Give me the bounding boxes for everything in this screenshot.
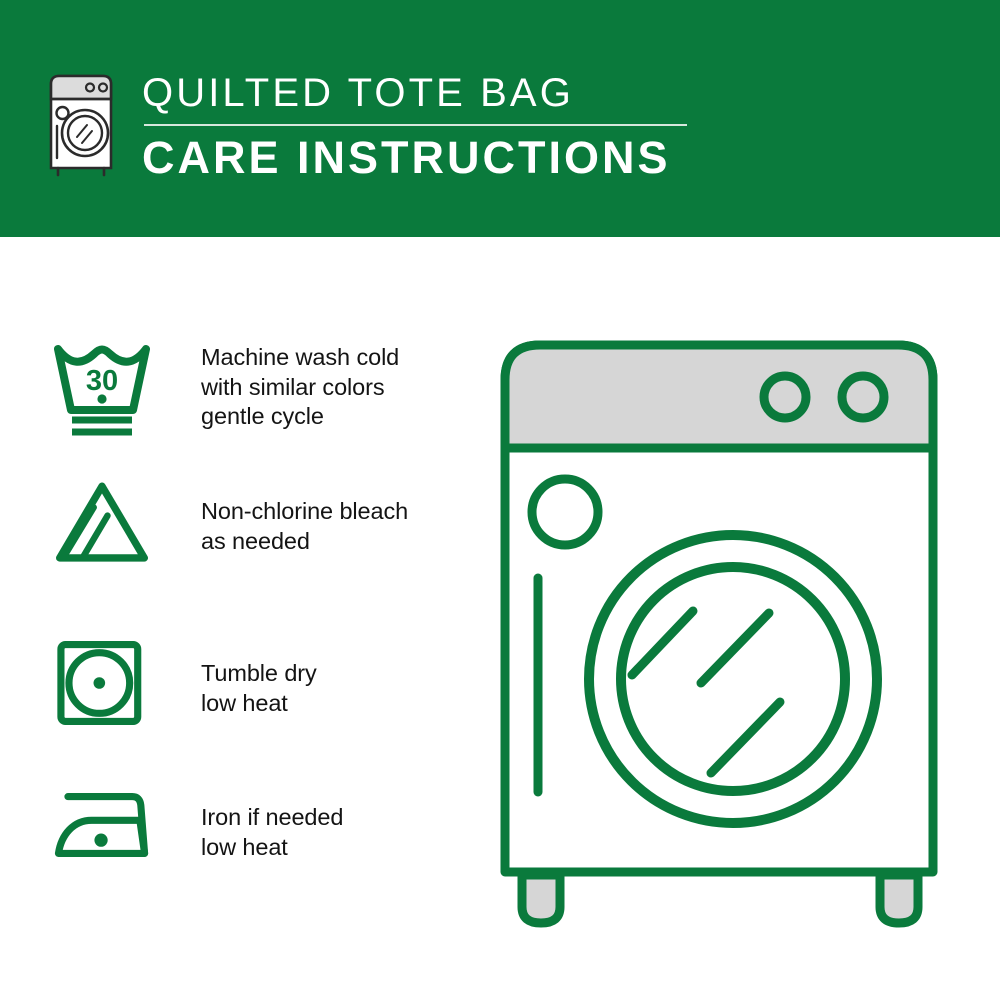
care-instruction-list: 30 Machine wash cold with similar colors… — [0, 237, 470, 1000]
leg-left — [522, 875, 560, 923]
wash-tub-30-gentle-icon: 30 — [46, 337, 158, 437]
leg-right — [880, 875, 918, 923]
tumble-dry-low-heat-icon — [46, 637, 158, 729]
page-title-primary: QUILTED TOTE BAG — [142, 70, 702, 116]
page-title-secondary: CARE INSTRUCTIONS — [142, 132, 702, 184]
care-row-iron: Iron if needed low heat — [0, 787, 470, 863]
control-panel — [505, 345, 933, 448]
header-title-group: QUILTED TOTE BAG CARE INSTRUCTIONS — [142, 70, 702, 184]
care-text-bleach: Non-chlorine bleach as needed — [201, 477, 408, 556]
header-band: QUILTED TOTE BAG CARE INSTRUCTIONS — [0, 0, 1000, 237]
care-row-tumble-dry: Tumble dry low heat — [0, 637, 470, 729]
care-instructions-infographic: QUILTED TOTE BAG CARE INSTRUCTIONS 30 — [0, 0, 1000, 1000]
care-row-bleach: Non-chlorine bleach as needed — [0, 477, 470, 569]
iron-low-heat-icon — [46, 787, 158, 863]
care-text-tumble-dry: Tumble dry low heat — [201, 637, 317, 718]
care-row-machine-wash: 30 Machine wash cold with similar colors… — [0, 337, 470, 437]
title-divider — [144, 124, 687, 126]
washing-machine-icon — [46, 72, 116, 178]
care-text-machine-wash: Machine wash cold with similar colors ge… — [201, 337, 399, 432]
wash-temperature-label: 30 — [86, 365, 118, 397]
front-load-washing-machine-illustration — [480, 330, 980, 940]
care-text-iron: Iron if needed low heat — [201, 787, 343, 862]
non-chlorine-bleach-triangle-icon — [46, 477, 158, 569]
